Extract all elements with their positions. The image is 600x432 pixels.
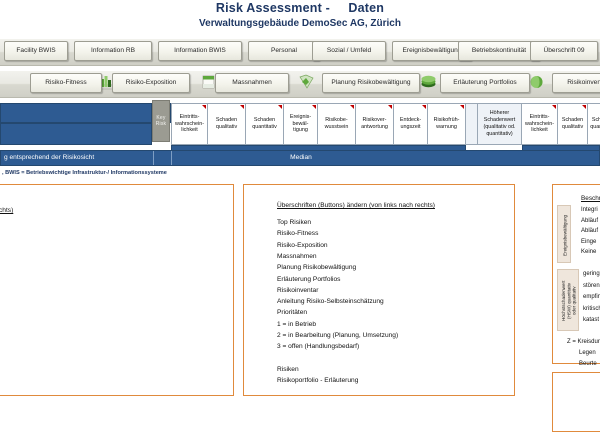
panel-middle-item: Risiko-Fitness — [277, 230, 318, 237]
green-stack-icon[interactable] — [420, 73, 437, 91]
table-header-cell-label: Eintritts- wahrschein- lichkeit — [525, 114, 554, 135]
toolbar2-button-3[interactable]: Planung Risikobewältigung — [322, 73, 420, 93]
panel-middle-item: Planung Risikobewältigung — [277, 264, 356, 271]
panel-middle-item: Top Risiken — [277, 219, 311, 226]
table-header-cell-label: Eintritts- wahrschein- lichkeit — [175, 114, 204, 135]
toolbar1-button-3[interactable]: Personal — [248, 41, 320, 61]
cell-comment-marker-icon — [202, 105, 206, 109]
toolbar1-button-label: Information BWIS — [174, 48, 226, 55]
group-ereignisbewaeltigung-box: Ereignisbewältigung — [557, 205, 571, 263]
key-risk-header[interactable]: Key Risk — [152, 100, 170, 142]
toolbar2-button-0[interactable]: Risiko-Fitness — [30, 73, 102, 93]
table-header-cell-10[interactable]: Eintritts- wahrschein- lichkeit — [522, 103, 558, 145]
panel-middle-item: Risikoinventar — [277, 287, 318, 294]
toolbar2-button-label: Risiko-Fitness — [45, 80, 86, 87]
panel-middle-item: 1 = in Betrieb — [277, 321, 316, 328]
group-ereignisbewaeltigung-label: Ereignisbewältigung — [558, 206, 572, 264]
table-header-cell-2[interactable]: Schaden quantitativ — [246, 103, 284, 145]
page-title: Risk Assessment - Daten — [0, 1, 600, 15]
risk-table-header-strip: Key Risk Eintritts- wahrschein- lichkeit… — [0, 100, 600, 172]
table-header-cell-4[interactable]: Risikobe- wusstsein — [318, 103, 356, 145]
panel-right-lower — [552, 372, 600, 432]
toolbar2-button-2[interactable]: Massnahmen — [215, 73, 289, 93]
toolbar1-button-4[interactable]: Sozial / Umfeld — [312, 41, 386, 61]
toolbar2-button-1[interactable]: Risiko-Exposition — [112, 73, 190, 93]
panel-left-title: tions) ändern (von links nach rechts) — [0, 207, 13, 214]
toolbar1-button-label: Ereignisbewältigung — [402, 48, 461, 55]
toolbar1-button-label: Personal — [271, 48, 297, 55]
table-header-cell-label: Ereignis- bewäl- tigung — [290, 114, 311, 135]
toolbar1-button-label: Überschrift 09 — [543, 48, 584, 55]
panel-middle-title: Überschriften (Buttons) ändern (von link… — [277, 202, 435, 209]
table-header-cell-1[interactable]: Schaden qualitativ — [208, 103, 246, 145]
panel-middle-item: Prioritäten — [277, 309, 307, 316]
panel-right-group2-item: gering — [583, 271, 600, 277]
cell-comment-marker-icon — [552, 105, 556, 109]
panel-right-footer-item: Beurte — [579, 361, 597, 367]
panel-right-group1-item: Integri — [581, 207, 598, 213]
panel-middle: Überschriften (Buttons) ändern (von link… — [243, 184, 515, 396]
cell-comment-marker-icon — [240, 105, 244, 109]
panel-right-group1-item: Abläuf — [581, 218, 598, 224]
panel-right-group1-item: Keine — [581, 249, 596, 255]
toolbar-row-1: Facility BWISInformation RBInformation B… — [0, 38, 600, 66]
table-header-cell-label: Schaden quantitativ — [590, 117, 600, 131]
toolbar2-button-label: Massnahmen — [232, 80, 272, 87]
toolbar2-button-label: Risikoinventar — [567, 80, 600, 87]
summary-band-median-text: Median — [1, 154, 600, 161]
table-header-cell-6[interactable]: Entdeck- ungszeit — [394, 103, 428, 145]
panel-right-title: Beschr — [581, 195, 600, 202]
toolbar1-button-label: Betriebskontinuität — [472, 48, 526, 55]
table-header-cell-label: Höherer Schadenwert (qualitativ od. quan… — [483, 110, 515, 138]
table-blue-row-top — [0, 103, 152, 123]
panel-right-group1-item: Abläuf — [581, 228, 598, 234]
toolbar1-button-label: Information RB — [91, 48, 135, 55]
table-legend-line: , BWIS = Betriebswichtige Infrastruktur-… — [2, 170, 402, 176]
summary-band: g entsprechend der Risikosicht Median — [0, 150, 600, 166]
panel-right-group2-item: katast — [583, 317, 599, 323]
cell-comment-marker-icon — [582, 105, 586, 109]
toolbar1-button-7[interactable]: Überschrift 09 — [530, 41, 598, 61]
toolbar-row-2: Risiko-FitnessRisiko-ExpositionMassnahme… — [0, 70, 600, 98]
panel-left: tions) ändern (von links nach rechts) ng… — [0, 184, 234, 396]
key-risk-label: Key Risk — [154, 115, 168, 128]
panel-right: Beschr Ereignisbewältigung Höchstschaden… — [552, 184, 600, 364]
cell-comment-marker-icon — [312, 105, 316, 109]
toolbar2-button-5[interactable]: Risikoinventar — [552, 73, 600, 93]
page-header: Risk Assessment - Daten Verwaltungsgebäu… — [0, 0, 600, 34]
table-blue-row-bottom — [0, 123, 152, 145]
table-header-cell-label: Schaden qualitativ — [562, 117, 583, 131]
risk-assessment-app: Risk Assessment - Daten Verwaltungsgebäu… — [0, 0, 600, 400]
toolbar1-button-1[interactable]: Information RB — [74, 41, 152, 61]
panel-right-group1-item: Einge — [581, 239, 596, 245]
table-header-cell-0[interactable]: Eintritts- wahrschein- lichkeit — [171, 103, 208, 145]
table-header-cell-5[interactable]: Risikover- antwortung — [356, 103, 394, 145]
toolbar1-button-0[interactable]: Facility BWIS — [4, 41, 68, 61]
panel-right-group2-item: empfin — [583, 294, 600, 300]
toolbar1-button-6[interactable]: Betriebskontinuität — [458, 41, 540, 61]
table-header-cell-8[interactable] — [466, 103, 478, 145]
panel-middle-item: Risiko-Exposition — [277, 242, 328, 249]
toolbar2-button-label: Planung Risikobewältigung — [331, 80, 410, 87]
cell-comment-marker-icon — [278, 105, 282, 109]
panel-middle-item: Risiken — [277, 366, 299, 373]
table-header-cell-label: Schaden qualitativ — [216, 117, 237, 131]
panel-right-footer-item: Legen — [579, 350, 596, 356]
panel-middle-item: Anleitung Risiko-Selbsteinschätzung — [277, 298, 384, 305]
panel-middle-item: Risikoportfolio - Erläuterung — [277, 377, 358, 384]
table-header-cell-label: Risikobe- wusstsein — [325, 117, 349, 131]
table-header-cell-3[interactable]: Ereignis- bewäl- tigung — [284, 103, 318, 145]
toolbar2-button-4[interactable]: Erläuterung Portfolios — [440, 73, 530, 93]
toolbar1-button-label: Sozial / Umfeld — [327, 48, 371, 55]
table-header-cell-7[interactable]: Risikofrüh- warnung — [428, 103, 466, 145]
toolbar2-button-label: Erläuterung Portfolios — [453, 80, 516, 87]
cell-comment-marker-icon — [388, 105, 392, 109]
table-header-cell-9[interactable]: Höherer Schadenwert (qualitativ od. quan… — [478, 103, 522, 145]
table-header-cell-label: Risikofrüh- warnung — [434, 117, 460, 131]
page-subtitle: Verwaltungsgebäude DemoSec AG, Zürich — [0, 18, 600, 29]
toolbar1-button-label: Facility BWIS — [16, 48, 55, 55]
group-hoechstschadenwert-label: Höchstschadenwert (HSW) quantitativ oder… — [558, 270, 580, 332]
table-header-cell-label: Entdeck- ungszeit — [400, 117, 421, 131]
toolbar1-button-2[interactable]: Information BWIS — [158, 41, 242, 61]
green-sphere-icon[interactable] — [528, 73, 545, 91]
panel-middle-item: Erläuterung Portfolios — [277, 276, 340, 283]
panel-middle-item: Massnahmen — [277, 253, 317, 260]
table-header-cell-label: Schaden quantitativ — [252, 117, 277, 131]
green-map-icon[interactable] — [298, 73, 315, 91]
cell-comment-marker-icon — [460, 105, 464, 109]
group-hoechstschadenwert-box: Höchstschadenwert (HSW) quantitativ oder… — [557, 269, 579, 331]
table-header-cell-12[interactable]: Schaden quantitativ — [588, 103, 600, 145]
table-header-cell-11[interactable]: Schaden qualitativ — [558, 103, 588, 145]
panel-right-footer-item: Z = Kreisdurc — [567, 339, 600, 345]
panel-right-group2-item: kritisch — [583, 306, 600, 312]
cell-comment-marker-icon — [350, 105, 354, 109]
table-header-cell-label: Risikover- antwortung — [361, 117, 388, 131]
cell-comment-marker-icon — [422, 105, 426, 109]
panel-middle-item: 2 = in Bearbeitung (Planung, Umsetzung) — [277, 332, 398, 339]
toolbar2-button-label: Risiko-Exposition — [126, 80, 177, 87]
panel-middle-item: 3 = offen (Handlungsbedarf) — [277, 343, 359, 350]
panel-right-group2-item: stören — [583, 283, 600, 289]
